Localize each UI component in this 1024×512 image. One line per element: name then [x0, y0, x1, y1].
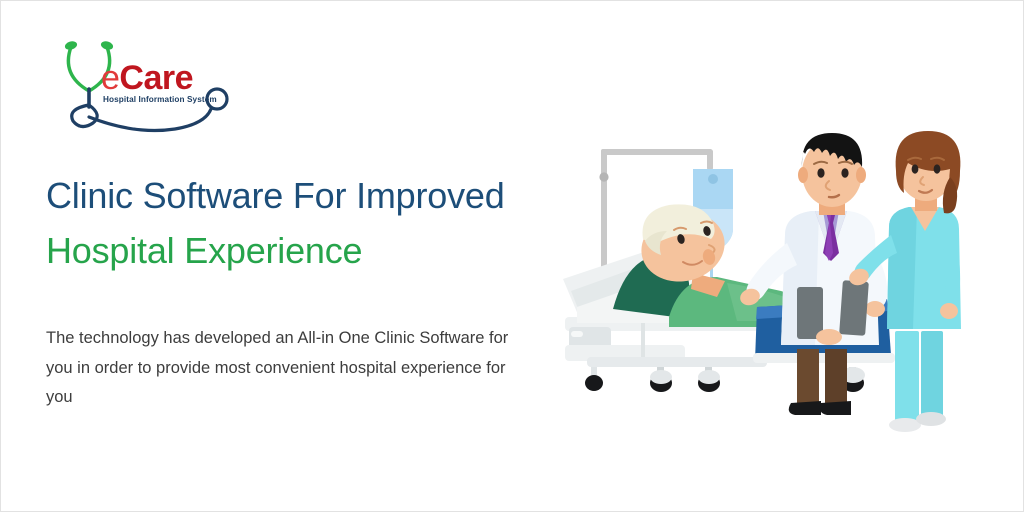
- headline-line-1: Clinic Software For Improved: [46, 169, 546, 224]
- copy-block: Clinic Software For Improved Hospital Ex…: [46, 169, 546, 413]
- promo-banner: eCare Hospital Information System Clinic…: [0, 0, 1024, 512]
- body-paragraph: The technology has developed an All-in O…: [46, 324, 526, 412]
- ecare-logo[interactable]: eCare Hospital Information System: [45, 29, 245, 139]
- headline-line-2: Hospital Experience: [46, 224, 546, 279]
- logo-tagline: Hospital Information System: [103, 95, 217, 104]
- hospital-scene-illustration: [557, 131, 1017, 491]
- logo-wordmark: eCare: [101, 61, 193, 95]
- logo-mark-care: Care: [119, 59, 193, 97]
- logo-mark-e: e: [101, 59, 119, 97]
- bed-wheel: [698, 367, 720, 392]
- bed-wheel: [585, 367, 603, 391]
- bed-wheel: [650, 367, 672, 392]
- hospital-scene-svg: [557, 131, 1017, 491]
